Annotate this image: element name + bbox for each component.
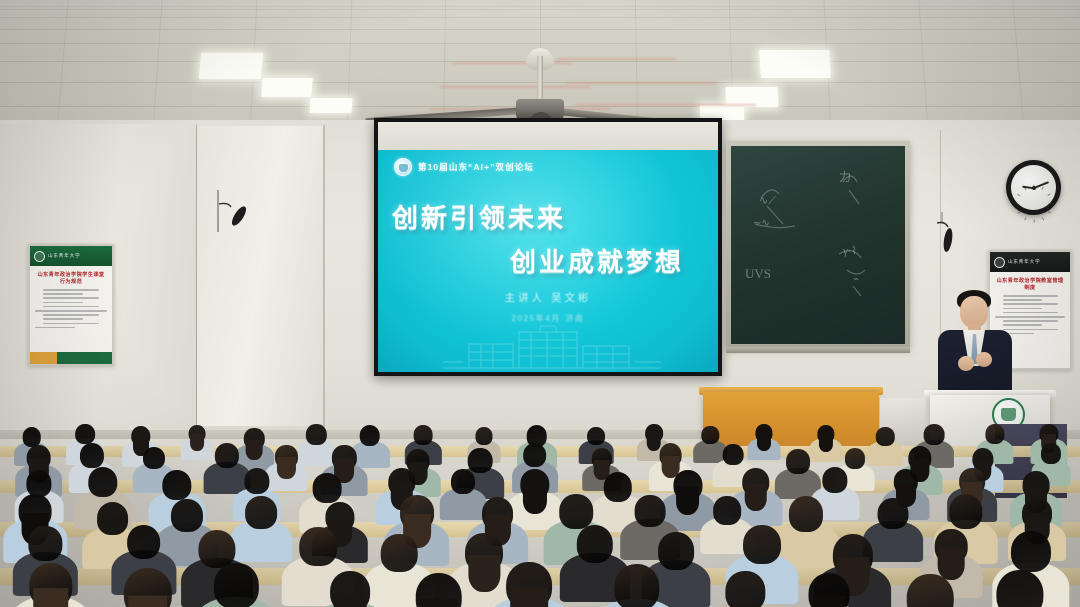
clock-tick [1033, 219, 1034, 222]
audience-head [414, 425, 433, 444]
poster-header-text: 山东青年大学 [48, 253, 80, 259]
audience-member [312, 571, 389, 607]
clock-face [1011, 165, 1056, 210]
wall-poster-left: 山东青年大学 山东青年政治学院学生课堂行为规范 [28, 244, 114, 366]
campus-gate-graphic [423, 322, 673, 370]
audience-hair [812, 596, 846, 607]
audience-hair [33, 588, 69, 607]
presenter-hand [958, 356, 974, 371]
audience-member [593, 564, 681, 607]
audience-head [381, 534, 418, 572]
screen-blank-band [378, 122, 718, 150]
audience-head [713, 496, 741, 525]
audience-head [312, 473, 341, 503]
student-audience [0, 418, 1080, 607]
slide-header-text: 第10届山东“AI+”双创论坛 [418, 161, 534, 173]
audience-hair [128, 596, 168, 607]
ceiling-mic-left [212, 188, 256, 234]
audience-head [299, 527, 337, 566]
clock-tick [1049, 202, 1052, 203]
chalk-tray [726, 347, 910, 353]
audience-head [743, 525, 781, 564]
presenter-hand [976, 352, 992, 367]
slide-header: 第10届山东“AI+”双创论坛 [394, 158, 534, 176]
audience-member [885, 574, 975, 607]
audience-head [80, 443, 104, 468]
blackboard: UVS∿⟋力∼∿γ·⌇⌁ [731, 146, 905, 344]
audience-head [27, 470, 52, 496]
poster-header: 山东青年大学 [30, 246, 112, 266]
university-logo-icon [34, 251, 45, 262]
audience-hair [419, 599, 457, 607]
audience-head [215, 443, 239, 468]
audience-hair [757, 434, 771, 451]
slide-title-line1: 创新引领未来 [392, 198, 566, 235]
audience-head [22, 427, 41, 446]
wall-recess-left [196, 126, 324, 426]
audience-head [143, 447, 165, 470]
slide-title-line2: 创业成就梦想 [510, 242, 684, 279]
audience-head [949, 494, 982, 528]
wall-seam [324, 124, 325, 444]
audience-head [587, 427, 605, 445]
audience-head [1041, 443, 1061, 464]
poster-body: 山东青年政治学院学生课堂行为规范 [30, 266, 112, 336]
audience-head [822, 467, 847, 493]
clock-tick [1041, 186, 1044, 190]
lecture-hall-photo: 第10届山东“AI+”双创论坛 创新引领未来 创业成就梦想 主讲人 吴文彬 20… [0, 0, 1080, 607]
audience-head [214, 563, 258, 607]
audience-head [88, 467, 117, 497]
audience-head [723, 444, 744, 465]
audience-head [451, 469, 475, 494]
audience-member [101, 568, 194, 607]
poster-title: 山东青年政治学院学生课堂行为规范 [35, 271, 107, 285]
audience-head [614, 564, 659, 607]
clock-tick [1047, 193, 1051, 196]
wall-seam [196, 124, 197, 444]
blackboard-frame: UVS∿⟋力∼∿γ·⌇⌁ [726, 141, 910, 349]
audience-member [974, 570, 1065, 607]
audience-head [244, 468, 269, 494]
audience-head [577, 525, 613, 563]
audience-head [907, 574, 954, 607]
university-logo-icon [994, 257, 1005, 268]
audience-head [560, 494, 594, 529]
audience-head [986, 424, 1005, 444]
audience-head [702, 426, 719, 444]
presenter [930, 280, 1020, 405]
audience-member [9, 563, 93, 607]
audience-head [923, 424, 944, 445]
clock-tick [1017, 193, 1021, 196]
audience-head [635, 495, 666, 527]
presentation-slide: 第10届山东“AI+”双创论坛 创新引领未来 创业成就梦想 主讲人 吴文彬 20… [378, 150, 718, 372]
audience-head [306, 424, 326, 445]
audience-member [485, 562, 574, 607]
ceiling-mic-right [928, 212, 962, 262]
audience-head [162, 470, 191, 500]
audience-member [707, 571, 783, 607]
audience-hair [190, 434, 204, 451]
audience-head [726, 571, 765, 607]
audience-head [75, 424, 95, 444]
audience-head [996, 570, 1043, 607]
audience-head [359, 425, 380, 446]
slide-subtitle: 主讲人 吴文彬 [378, 290, 718, 305]
poster-header-text: 山东青年大学 [1008, 259, 1040, 265]
audience-hair [334, 594, 367, 607]
audience-head [523, 443, 547, 467]
clock-tick [1033, 184, 1034, 187]
poster-header: 山东青年大学 [990, 252, 1070, 272]
audience-head [475, 427, 492, 445]
audience-head [29, 526, 62, 560]
wall-clock [1006, 160, 1061, 215]
audience-head [877, 498, 908, 530]
audience-member [789, 573, 868, 607]
audience-member [193, 563, 279, 607]
clock-tick [1015, 202, 1018, 203]
audience-head [245, 496, 277, 529]
audience-head [786, 449, 810, 474]
audience-member [394, 573, 484, 607]
audience-hair [510, 588, 548, 607]
chalk-strokes [731, 146, 905, 344]
poster-footer [30, 352, 112, 364]
audience-head [876, 427, 894, 446]
audience-head [127, 525, 161, 560]
fan-downrod [537, 56, 543, 102]
university-seal-icon [394, 158, 412, 176]
audience-head [1011, 531, 1051, 572]
